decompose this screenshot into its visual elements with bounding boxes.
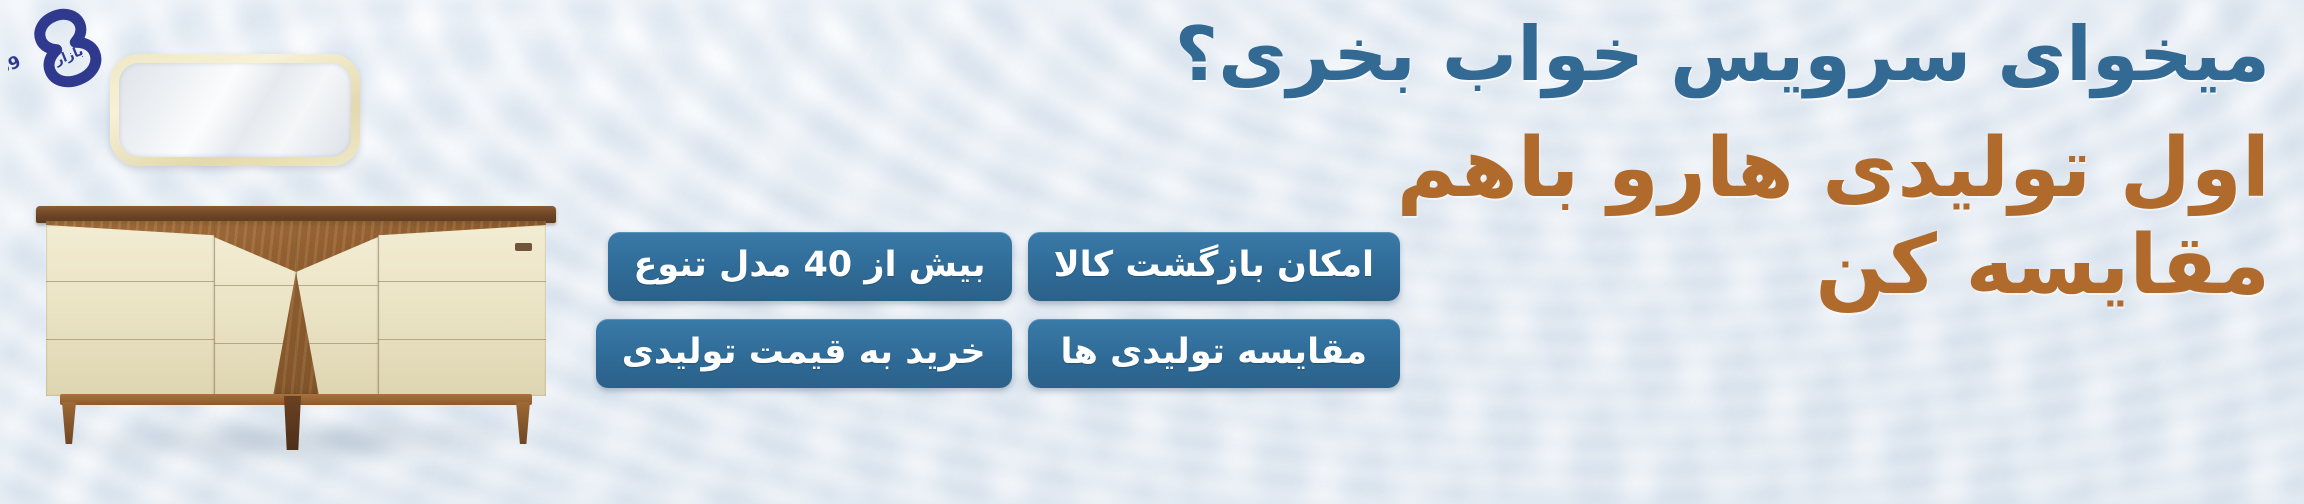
badge-returns[interactable]: امکان بازگشت کالا [1028, 232, 1400, 301]
badge-compare[interactable]: مقایسه تولیدی ها [1028, 319, 1400, 388]
brand-tag-icon [515, 243, 532, 251]
product-image [22, 24, 582, 494]
mirror [110, 54, 360, 166]
promo-banner: 369 بازار [0, 0, 2304, 504]
headline-line-2: اول تولیدی هارو باهم [710, 127, 2270, 211]
dresser-leg-center [284, 396, 301, 450]
feature-badge-group: امکان بازگشت کالا بیش از 40 مدل تنوع مقا… [600, 232, 1400, 388]
dresser-body [46, 221, 546, 396]
mirror-glass [119, 63, 351, 157]
headline-line-1: میخوای سرویس خواب بخری؟ [710, 16, 2270, 93]
dresser [36, 206, 556, 436]
badge-variety[interactable]: بیش از 40 مدل تنوع [608, 232, 1012, 301]
badge-factory-price[interactable]: خرید به قیمت تولیدی [596, 319, 1012, 388]
drawer-panel-left [46, 225, 214, 396]
